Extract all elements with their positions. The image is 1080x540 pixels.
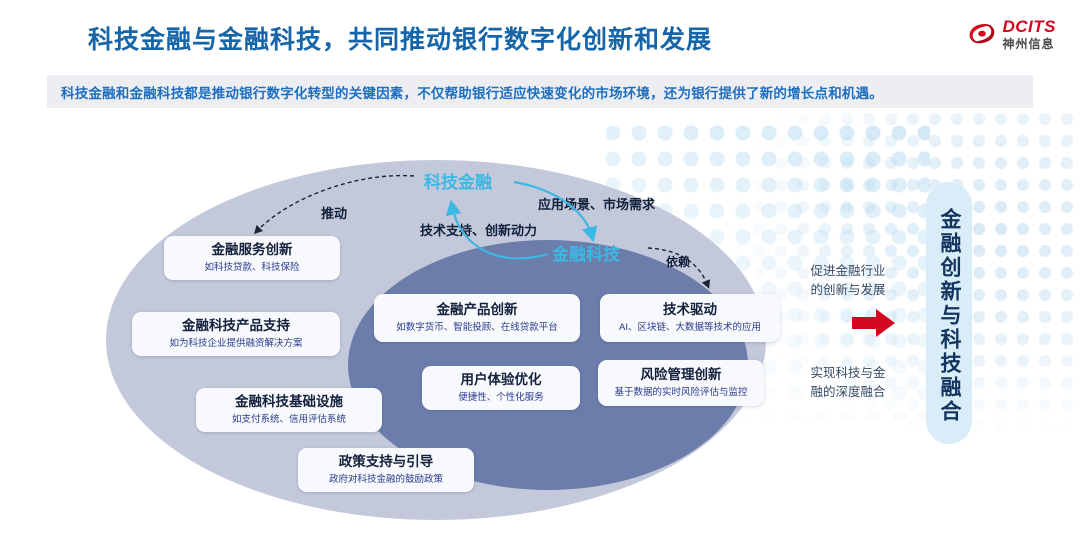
card-title: 政策支持与引导	[339, 454, 434, 471]
card-subtitle: 如支付系统、信用评估系统	[232, 414, 346, 426]
card-subtitle: 如科技贷款、科技保险	[204, 262, 299, 274]
card-title: 技术驱动	[663, 302, 717, 319]
label-jinrong-keji: 金融科技	[552, 240, 620, 265]
subtitle-banner: 科技金融和金融科技都是推动银行数字化转型的关键因素，不仅帮助银行适应快速变化的市…	[47, 75, 1033, 108]
outcome-top-text: 促进金融行业的创新与发展	[796, 262, 900, 300]
card-subtitle: 便捷性、个性化服务	[458, 392, 544, 404]
logo-text-cn: 神州信息	[1003, 38, 1057, 50]
card-technology-driven[interactable]: 技术驱动 AI、区块链、大数据等技术的应用	[600, 294, 780, 342]
card-user-experience-optimization[interactable]: 用户体验优化 便捷性、个性化服务	[422, 366, 580, 410]
logo-text-en: DCITS	[1003, 18, 1057, 35]
card-subtitle: 如为科技企业提供融资解决方案	[169, 338, 302, 350]
label-tech-support: 技术支持、创新动力	[420, 220, 537, 239]
card-financial-product-innovation[interactable]: 金融产品创新 如数字货币、智能投顾、在线贷款平台	[374, 294, 580, 342]
card-title: 金融科技产品支持	[182, 318, 290, 335]
card-subtitle: 政府对科技金融的鼓励政策	[329, 474, 443, 486]
card-fintech-infrastructure[interactable]: 金融科技基础设施 如支付系统、信用评估系统	[196, 388, 382, 432]
card-policy-support[interactable]: 政策支持与引导 政府对科技金融的鼓励政策	[298, 448, 474, 492]
card-title: 金融服务创新	[212, 242, 293, 259]
label-tuidong: 推动	[321, 203, 347, 222]
card-subtitle: 基于数据的实时风险评估与监控	[614, 387, 747, 399]
vertical-label-fusion: 金融创新与科技融合	[926, 196, 972, 436]
label-keji-jinrong: 科技金融	[424, 168, 492, 193]
card-title: 用户体验优化	[461, 372, 542, 389]
red-right-arrow-icon	[852, 308, 896, 338]
outcome-bottom-text: 实现科技与金融的深度融合	[796, 364, 900, 402]
label-application-scenario: 应用场景、市场需求	[538, 194, 655, 213]
card-fintech-product-support[interactable]: 金融科技产品支持 如为科技企业提供融资解决方案	[132, 312, 340, 356]
page-title: 科技金融与金融科技，共同推动银行数字化创新和发展	[88, 20, 712, 56]
card-title: 金融产品创新	[437, 302, 518, 319]
card-risk-management-innovation[interactable]: 风险管理创新 基于数据的实时风险评估与监控	[598, 360, 764, 406]
card-title: 风险管理创新	[641, 367, 722, 384]
label-yilai: 依赖	[666, 253, 690, 270]
dcits-swirl-icon	[967, 19, 997, 49]
slide-canvas: 科技金融与金融科技，共同推动银行数字化创新和发展 DCITS 神州信息 科技金融…	[0, 0, 1080, 540]
card-title: 金融科技基础设施	[235, 394, 343, 411]
brand-logo: DCITS 神州信息	[967, 18, 1057, 50]
card-financial-service-innovation[interactable]: 金融服务创新 如科技贷款、科技保险	[164, 236, 340, 280]
subtitle-text: 科技金融和金融科技都是推动银行数字化转型的关键因素，不仅帮助银行适应快速变化的市…	[61, 82, 883, 102]
card-subtitle: 如数字货币、智能投顾、在线贷款平台	[396, 322, 558, 334]
card-subtitle: AI、区块链、大数据等技术的应用	[619, 322, 761, 334]
